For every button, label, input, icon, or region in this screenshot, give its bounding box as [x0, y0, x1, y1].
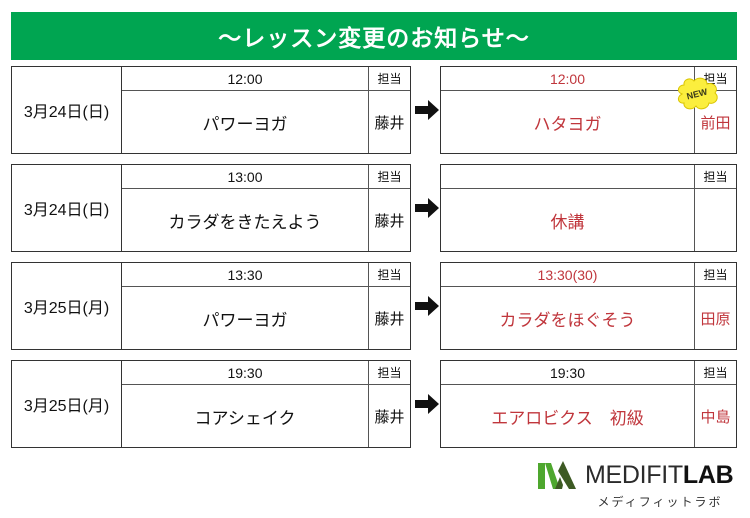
before-table: 3月24日(日) 13:00 カラダをきたえよう 担当 藤井 — [11, 164, 411, 252]
date-cell: 3月25日(月) — [12, 361, 122, 447]
lesson-cell: パワーヨガ — [122, 91, 368, 153]
staff-column: 担当 藤井 — [368, 67, 410, 153]
staff-header-cell: 担当 — [369, 361, 410, 385]
logo-lab-text: LAB — [683, 461, 733, 489]
time-cell: 13:30 — [122, 263, 368, 287]
logo-wordmark: MEDIFITLAB — [585, 463, 733, 488]
staff-column: 担当 前田 — [694, 67, 736, 153]
time-cell: 12:00 — [122, 67, 368, 91]
staff-header-cell: 担当 — [695, 165, 736, 189]
lesson-cell: カラダをほぐそう — [441, 287, 694, 349]
staff-header-cell: 担当 — [369, 67, 410, 91]
lesson-cell: 休講 — [441, 189, 694, 251]
header-banner: 〜レッスン変更のお知らせ〜 — [11, 12, 737, 60]
time-cell — [441, 165, 694, 189]
brand-logo: MEDIFITLAB メディフィットラボ — [538, 461, 738, 511]
staff-column: 担当 中島 — [694, 361, 736, 447]
before-table: 3月24日(日) 12:00 パワーヨガ 担当 藤井 — [11, 66, 411, 154]
lesson-column: 12:00 パワーヨガ — [122, 67, 368, 153]
staff-header-cell: 担当 — [695, 361, 736, 385]
staff-column: 担当 田原 — [694, 263, 736, 349]
lesson-column: 19:30 コアシェイク — [122, 361, 368, 447]
date-cell: 3月25日(月) — [12, 263, 122, 349]
time-cell: 19:30 — [122, 361, 368, 385]
lesson-cell: エアロビクス 初級 — [441, 385, 694, 447]
staff-name-cell: 藤井 — [369, 189, 410, 251]
logo-subtitle: メディフィットラボ — [538, 493, 738, 510]
schedule-row: 3月24日(日) 13:00 カラダをきたえよう 担当 藤井 休講 担当 — [0, 164, 750, 254]
staff-name-cell: 藤井 — [369, 287, 410, 349]
before-table: 3月25日(月) 19:30 コアシェイク 担当 藤井 — [11, 360, 411, 448]
staff-header-cell: 担当 — [369, 263, 410, 287]
lesson-cell: パワーヨガ — [122, 287, 368, 349]
staff-name-cell: 田原 — [695, 287, 736, 349]
schedule-row: 3月24日(日) 12:00 パワーヨガ 担当 藤井 12:00 ハタヨガ 担当… — [0, 66, 750, 156]
page-title: 〜レッスン変更のお知らせ〜 — [218, 19, 530, 53]
schedule-row: 3月25日(月) 13:30 パワーヨガ 担当 藤井 13:30(30) カラダ… — [0, 262, 750, 352]
staff-column: 担当 藤井 — [368, 263, 410, 349]
right-arrow-icon — [414, 293, 440, 319]
lesson-cell: ハタヨガ — [441, 91, 694, 153]
lesson-column: 13:00 カラダをきたえよう — [122, 165, 368, 251]
lesson-column: 休講 — [441, 165, 694, 251]
right-arrow-icon — [414, 195, 440, 221]
time-cell: 12:00 — [441, 67, 694, 91]
staff-header-cell: 担当 — [695, 67, 736, 91]
staff-column: 担当 藤井 — [368, 165, 410, 251]
time-cell: 19:30 — [441, 361, 694, 385]
staff-header-cell: 担当 — [695, 263, 736, 287]
lesson-column: 13:30 パワーヨガ — [122, 263, 368, 349]
date-cell: 3月24日(日) — [12, 67, 122, 153]
staff-column: 担当 藤井 — [368, 361, 410, 447]
after-table: 19:30 エアロビクス 初級 担当 中島 — [440, 360, 737, 448]
lesson-cell: カラダをきたえよう — [122, 189, 368, 251]
staff-name-cell: 中島 — [695, 385, 736, 447]
staff-name-cell: 藤井 — [369, 385, 410, 447]
time-cell: 13:30(30) — [441, 263, 694, 287]
staff-column: 担当 — [694, 165, 736, 251]
medifit-mark-icon — [538, 461, 576, 489]
staff-name-cell: 藤井 — [369, 91, 410, 153]
lesson-column: 12:00 ハタヨガ — [441, 67, 694, 153]
schedule-rows: 3月24日(日) 12:00 パワーヨガ 担当 藤井 12:00 ハタヨガ 担当… — [0, 66, 750, 450]
staff-header-cell: 担当 — [369, 165, 410, 189]
lesson-cell: コアシェイク — [122, 385, 368, 447]
after-table: 12:00 ハタヨガ 担当 前田 NEW — [440, 66, 737, 154]
logo-row: MEDIFITLAB — [538, 461, 738, 489]
time-cell: 13:00 — [122, 165, 368, 189]
lesson-column: 13:30(30) カラダをほぐそう — [441, 263, 694, 349]
schedule-row: 3月25日(月) 19:30 コアシェイク 担当 藤井 19:30 エアロビクス… — [0, 360, 750, 450]
date-cell: 3月24日(日) — [12, 165, 122, 251]
staff-name-cell — [695, 189, 736, 251]
staff-name-cell: 前田 — [695, 91, 736, 153]
after-table: 13:30(30) カラダをほぐそう 担当 田原 — [440, 262, 737, 350]
logo-medifit-text: MEDIFIT — [585, 461, 683, 489]
lesson-column: 19:30 エアロビクス 初級 — [441, 361, 694, 447]
right-arrow-icon — [414, 391, 440, 417]
before-table: 3月25日(月) 13:30 パワーヨガ 担当 藤井 — [11, 262, 411, 350]
right-arrow-icon — [414, 97, 440, 123]
after-table: 休講 担当 — [440, 164, 737, 252]
